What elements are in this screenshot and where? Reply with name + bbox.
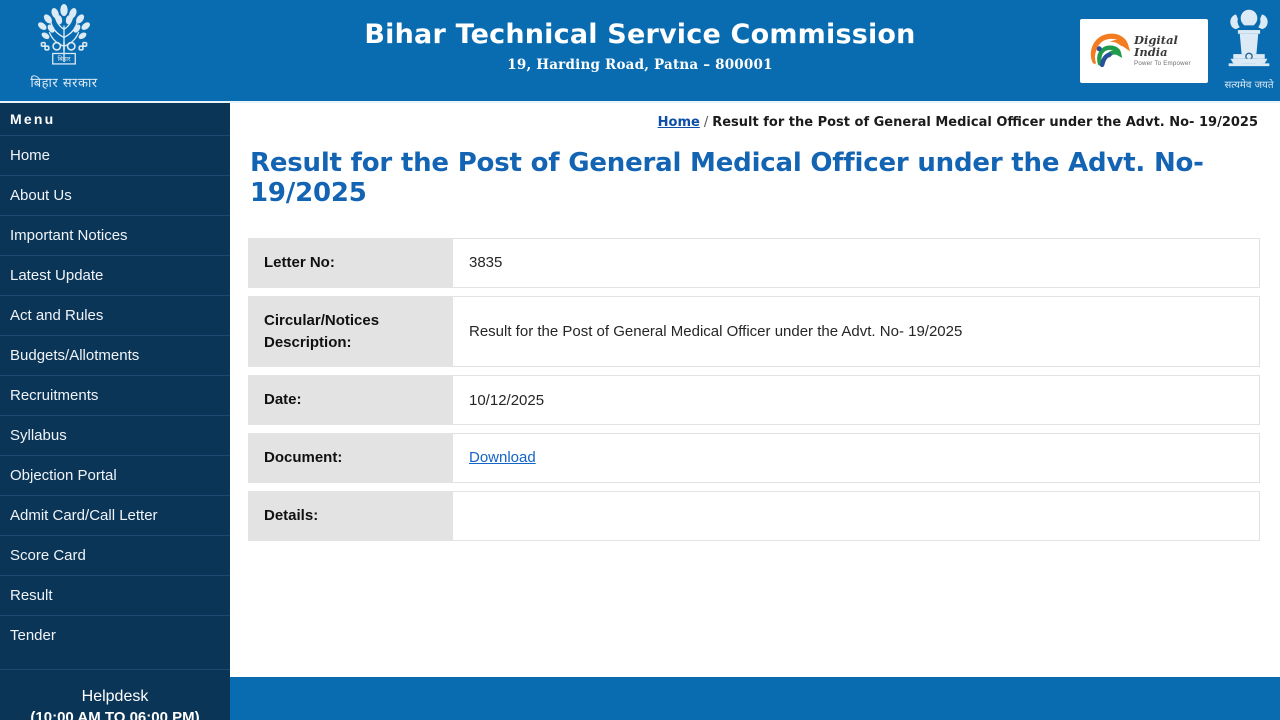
row-label-description: Circular/Notices Description:	[248, 296, 453, 368]
site-footer	[230, 677, 1280, 720]
row-value-description: Result for the Post of General Medical O…	[453, 296, 1260, 368]
bihar-government-emblem-icon: बिहार	[23, 2, 105, 76]
table-row: Document: Download	[248, 433, 1260, 483]
svg-text:बिहार: बिहार	[57, 55, 70, 63]
breadcrumb-home-link[interactable]: Home	[658, 115, 700, 130]
page-root: बिहार बिहार सरकार Bihar Technical Servic…	[0, 0, 1280, 720]
sidebar-item-tender[interactable]: Tender	[0, 615, 230, 655]
digital-india-icon	[1086, 29, 1130, 73]
breadcrumb: Home/Result for the Post of General Medi…	[230, 103, 1280, 130]
site-address: 19, Harding Road, Patna – 800001	[230, 57, 1050, 73]
row-value-document: Download	[453, 433, 1260, 483]
row-label-letter-no: Letter No:	[248, 238, 453, 288]
main-content: Home/Result for the Post of General Medi…	[230, 103, 1280, 677]
download-link[interactable]: Download	[469, 449, 536, 466]
bihar-government-logo: बिहार बिहार सरकार	[8, 2, 120, 101]
row-label-details: Details:	[248, 491, 453, 541]
site-title: Bihar Technical Service Commission	[230, 20, 1050, 50]
ashoka-emblem-caption: सत्यमेव जयते	[1224, 81, 1273, 91]
sidebar-item-recruitments[interactable]: Recruitments	[0, 375, 230, 415]
sidebar-navigation: Menu Home About Us Important Notices Lat…	[0, 103, 230, 720]
bihar-government-caption: बिहार सरकार	[30, 77, 97, 90]
sidebar-item-important-notices[interactable]: Important Notices	[0, 215, 230, 255]
page-title: Result for the Post of General Medical O…	[250, 148, 1280, 208]
digital-india-logo: Digital India Power To Empower	[1080, 19, 1208, 83]
sidebar-item-admit-card-call-letter[interactable]: Admit Card/Call Letter	[0, 495, 230, 535]
sidebar-item-latest-update[interactable]: Latest Update	[0, 255, 230, 295]
sidebar-item-budgets-allotments[interactable]: Budgets/Allotments	[0, 335, 230, 375]
ashoka-emblem-icon	[1221, 6, 1277, 80]
helpdesk-title: Helpdesk	[0, 686, 230, 708]
row-label-date: Date:	[248, 375, 453, 425]
site-header: बिहार बिहार सरकार Bihar Technical Servic…	[0, 0, 1280, 103]
sidebar-item-result[interactable]: Result	[0, 575, 230, 615]
table-row: Letter No: 3835	[248, 238, 1260, 288]
table-row: Details:	[248, 491, 1260, 541]
sidebar-item-syllabus[interactable]: Syllabus	[0, 415, 230, 455]
breadcrumb-current: Result for the Post of General Medical O…	[712, 115, 1258, 130]
row-value-date: 10/12/2025	[453, 375, 1260, 425]
sidebar-item-act-and-rules[interactable]: Act and Rules	[0, 295, 230, 335]
row-value-letter-no: 3835	[453, 238, 1260, 288]
row-value-details	[453, 491, 1260, 541]
notice-details-table: Letter No: 3835 Circular/Notices Descrip…	[248, 230, 1260, 549]
table-row: Date: 10/12/2025	[248, 375, 1260, 425]
sidebar-item-home[interactable]: Home	[0, 135, 230, 175]
national-emblem-logo: सत्यमेव जयते	[1218, 6, 1280, 101]
sidebar-menu-heading: Menu	[0, 103, 230, 135]
digital-india-text: Digital India Power To Empower	[1134, 35, 1202, 67]
header-text-block: Bihar Technical Service Commission 19, H…	[230, 20, 1050, 73]
digital-india-name: Digital India	[1134, 35, 1202, 58]
row-value-details-text	[469, 506, 1243, 525]
breadcrumb-separator: /	[704, 115, 708, 130]
digital-india-tagline: Power To Empower	[1134, 61, 1202, 67]
helpdesk-hours: (10:00 AM TO 06:00 PM)	[0, 708, 230, 720]
sidebar-item-score-card[interactable]: Score Card	[0, 535, 230, 575]
sidebar-item-about-us[interactable]: About Us	[0, 175, 230, 215]
row-label-document: Document:	[248, 433, 453, 483]
sidebar-item-objection-portal[interactable]: Objection Portal	[0, 455, 230, 495]
table-row: Circular/Notices Description: Result for…	[248, 296, 1260, 368]
helpdesk-block: Helpdesk (10:00 AM TO 06:00 PM)	[0, 669, 230, 720]
